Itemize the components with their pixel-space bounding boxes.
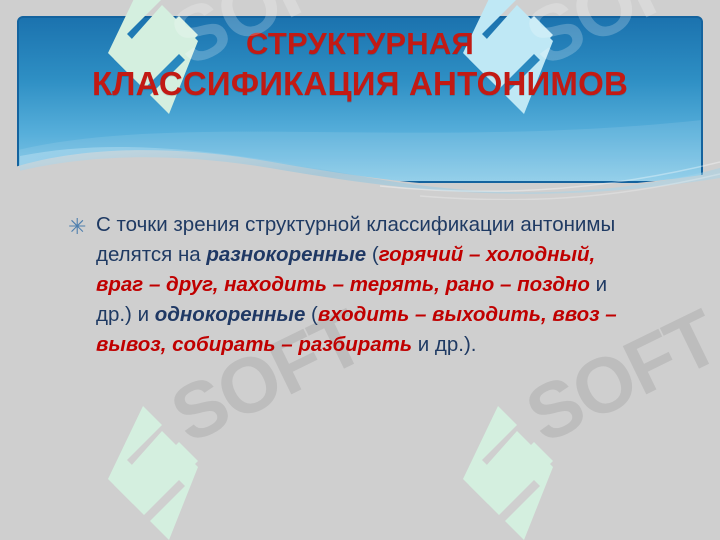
body-seg-2: ( [366,243,379,266]
body-seg-5: однокоренные [155,303,306,326]
watermark-text-bottom-left: SOFT [160,385,360,463]
watermark-bottom-left-logo [100,398,212,540]
asterisk-bullet-icon: ✳ [68,212,86,242]
body-seg-8: и др.). [412,333,476,356]
content-body: ✳ С точки зрения структурной классификац… [68,210,648,360]
body-seg-6: ( [305,303,318,326]
body-paragraph: С точки зрения структурной классификации… [96,210,648,360]
bullet-list-item: ✳ С точки зрения структурной классификац… [68,210,648,360]
body-seg-1: разнокоренные [206,243,366,266]
slide-canvas: SOFT SOFT [0,0,720,540]
watermark-bottom-right-logo [455,398,567,540]
watermark-text-bottom-right: SOFT [515,385,715,463]
title-banner: СТРУКТУРНАЯ КЛАССИФИКАЦИЯ АНТОНИМОВ [0,0,720,200]
